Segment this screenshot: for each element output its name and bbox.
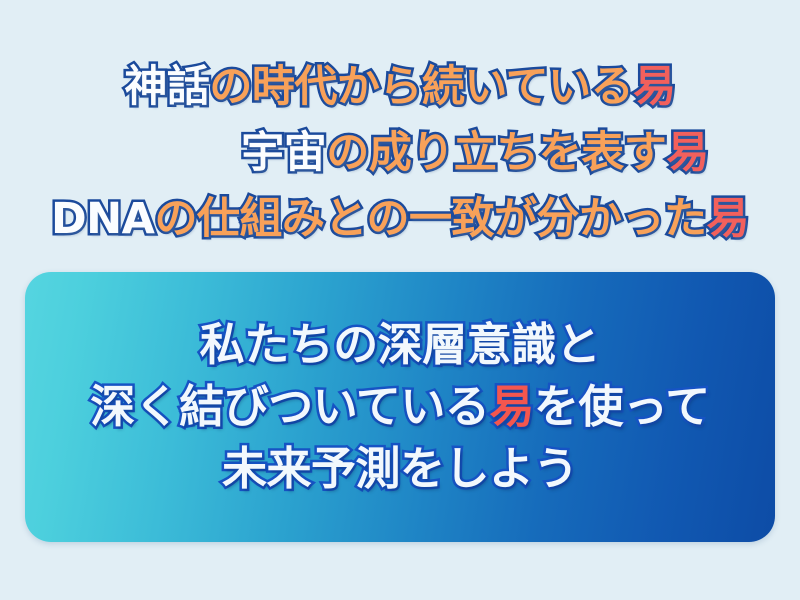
- headline-line-2: 宇宙の成り立ちを表す易: [0, 120, 800, 186]
- card-line-3-text: 未来予測をしよう: [222, 442, 578, 495]
- headline-group: 神話の時代から続いている易 宇宙の成り立ちを表す易 DNAの仕組みとの一致が分か…: [0, 54, 800, 252]
- card-line-2-segment-red: 易: [489, 380, 534, 433]
- headline-1-segment-red: 易: [633, 62, 676, 112]
- card-line-1-text: 私たちの深層意識と: [200, 318, 601, 371]
- headline-3-segment-white: DNA: [51, 194, 154, 244]
- headline-2-segment-orange: の成り立ちを表す: [326, 128, 666, 178]
- card-line-2-segment-b: を使って: [534, 380, 710, 433]
- slide-canvas: 神話の時代から続いている易 宇宙の成り立ちを表す易 DNAの仕組みとの一致が分か…: [0, 0, 800, 600]
- card-line-2-segment-a: 深く結びついている: [90, 380, 489, 433]
- headline-2-segment-white: 宇宙: [241, 128, 326, 178]
- card-line-2: 深く結びついている易を使って: [90, 376, 709, 438]
- headline-3-segment-orange: の仕組みとの一致が分かった: [154, 194, 706, 244]
- card-line-3: 未来予測をしよう: [222, 438, 578, 500]
- headline-2-segment-red: 易: [666, 128, 709, 178]
- headline-1-segment-orange: の時代から続いている: [209, 62, 633, 112]
- headline-3-segment-red: 易: [707, 194, 750, 244]
- headline-1-segment-white: 神話: [124, 62, 209, 112]
- conclusion-card: 私たちの深層意識と 深く結びついている易を使って 未来予測をしよう: [25, 272, 775, 542]
- headline-line-1: 神話の時代から続いている易: [0, 54, 800, 120]
- card-line-1: 私たちの深層意識と: [200, 314, 601, 376]
- headline-line-3: DNAの仕組みとの一致が分かった易: [0, 186, 800, 252]
